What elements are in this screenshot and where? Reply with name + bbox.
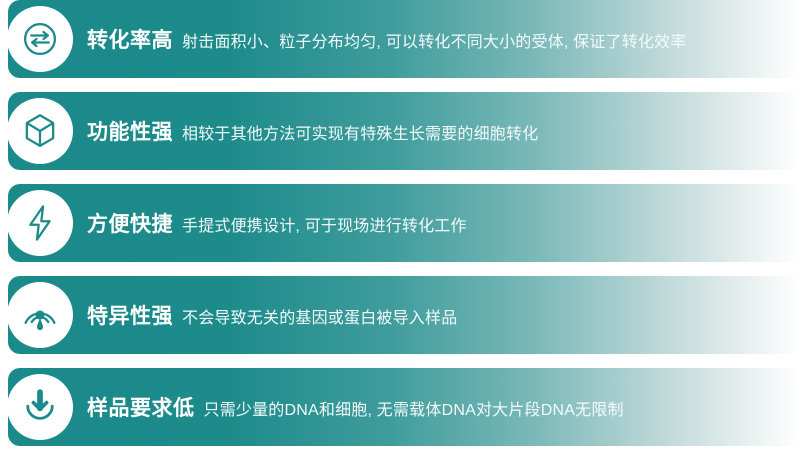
feature-text: 特异性强 不会导致无关的基因或蛋白被导入样品 [87, 300, 457, 330]
feature-description: 只需少量的DNA和细胞, 无需载体DNA对大片段DNA无限制 [204, 396, 624, 420]
feature-text: 功能性强 相较于其他方法可实现有特殊生长需要的细胞转化 [87, 116, 538, 146]
feature-row: 转化率高 射击面积小、粒子分布均匀, 可以转化不同大小的受体, 保证了转化效率 [0, 0, 800, 78]
exchange-arrows-icon [19, 18, 61, 60]
feature-list: 转化率高 射击面积小、粒子分布均匀, 可以转化不同大小的受体, 保证了转化效率 … [0, 0, 800, 446]
droplet-target-icon [19, 294, 61, 336]
feature-row: 特异性强 不会导致无关的基因或蛋白被导入样品 [0, 276, 800, 354]
feature-icon-badge [7, 374, 73, 440]
feature-description: 手提式便携设计, 可于现场进行转化工作 [182, 212, 467, 236]
download-bowl-icon [19, 386, 61, 428]
feature-icon-badge [7, 190, 73, 256]
feature-title: 转化率高 [87, 24, 173, 54]
feature-description: 不会导致无关的基因或蛋白被导入样品 [182, 304, 457, 328]
cube-hexagon-icon [19, 110, 61, 152]
feature-icon-badge [7, 6, 73, 72]
feature-icon-badge [7, 282, 73, 348]
feature-row: 功能性强 相较于其他方法可实现有特殊生长需要的细胞转化 [0, 92, 800, 170]
feature-text: 样品要求低 只需少量的DNA和细胞, 无需载体DNA对大片段DNA无限制 [87, 392, 624, 422]
feature-description: 相较于其他方法可实现有特殊生长需要的细胞转化 [182, 120, 538, 144]
feature-row: 样品要求低 只需少量的DNA和细胞, 无需载体DNA对大片段DNA无限制 [0, 368, 800, 446]
feature-text: 方便快捷 手提式便携设计, 可于现场进行转化工作 [87, 208, 467, 238]
feature-icon-badge [7, 98, 73, 164]
feature-row: 方便快捷 手提式便携设计, 可于现场进行转化工作 [0, 184, 800, 262]
feature-description: 射击面积小、粒子分布均匀, 可以转化不同大小的受体, 保证了转化效率 [182, 28, 687, 52]
feature-text: 转化率高 射击面积小、粒子分布均匀, 可以转化不同大小的受体, 保证了转化效率 [87, 24, 687, 54]
feature-title: 方便快捷 [87, 208, 173, 238]
lightning-bolt-icon [19, 202, 61, 244]
feature-title: 样品要求低 [87, 392, 195, 422]
feature-title: 特异性强 [87, 300, 173, 330]
feature-title: 功能性强 [87, 116, 173, 146]
